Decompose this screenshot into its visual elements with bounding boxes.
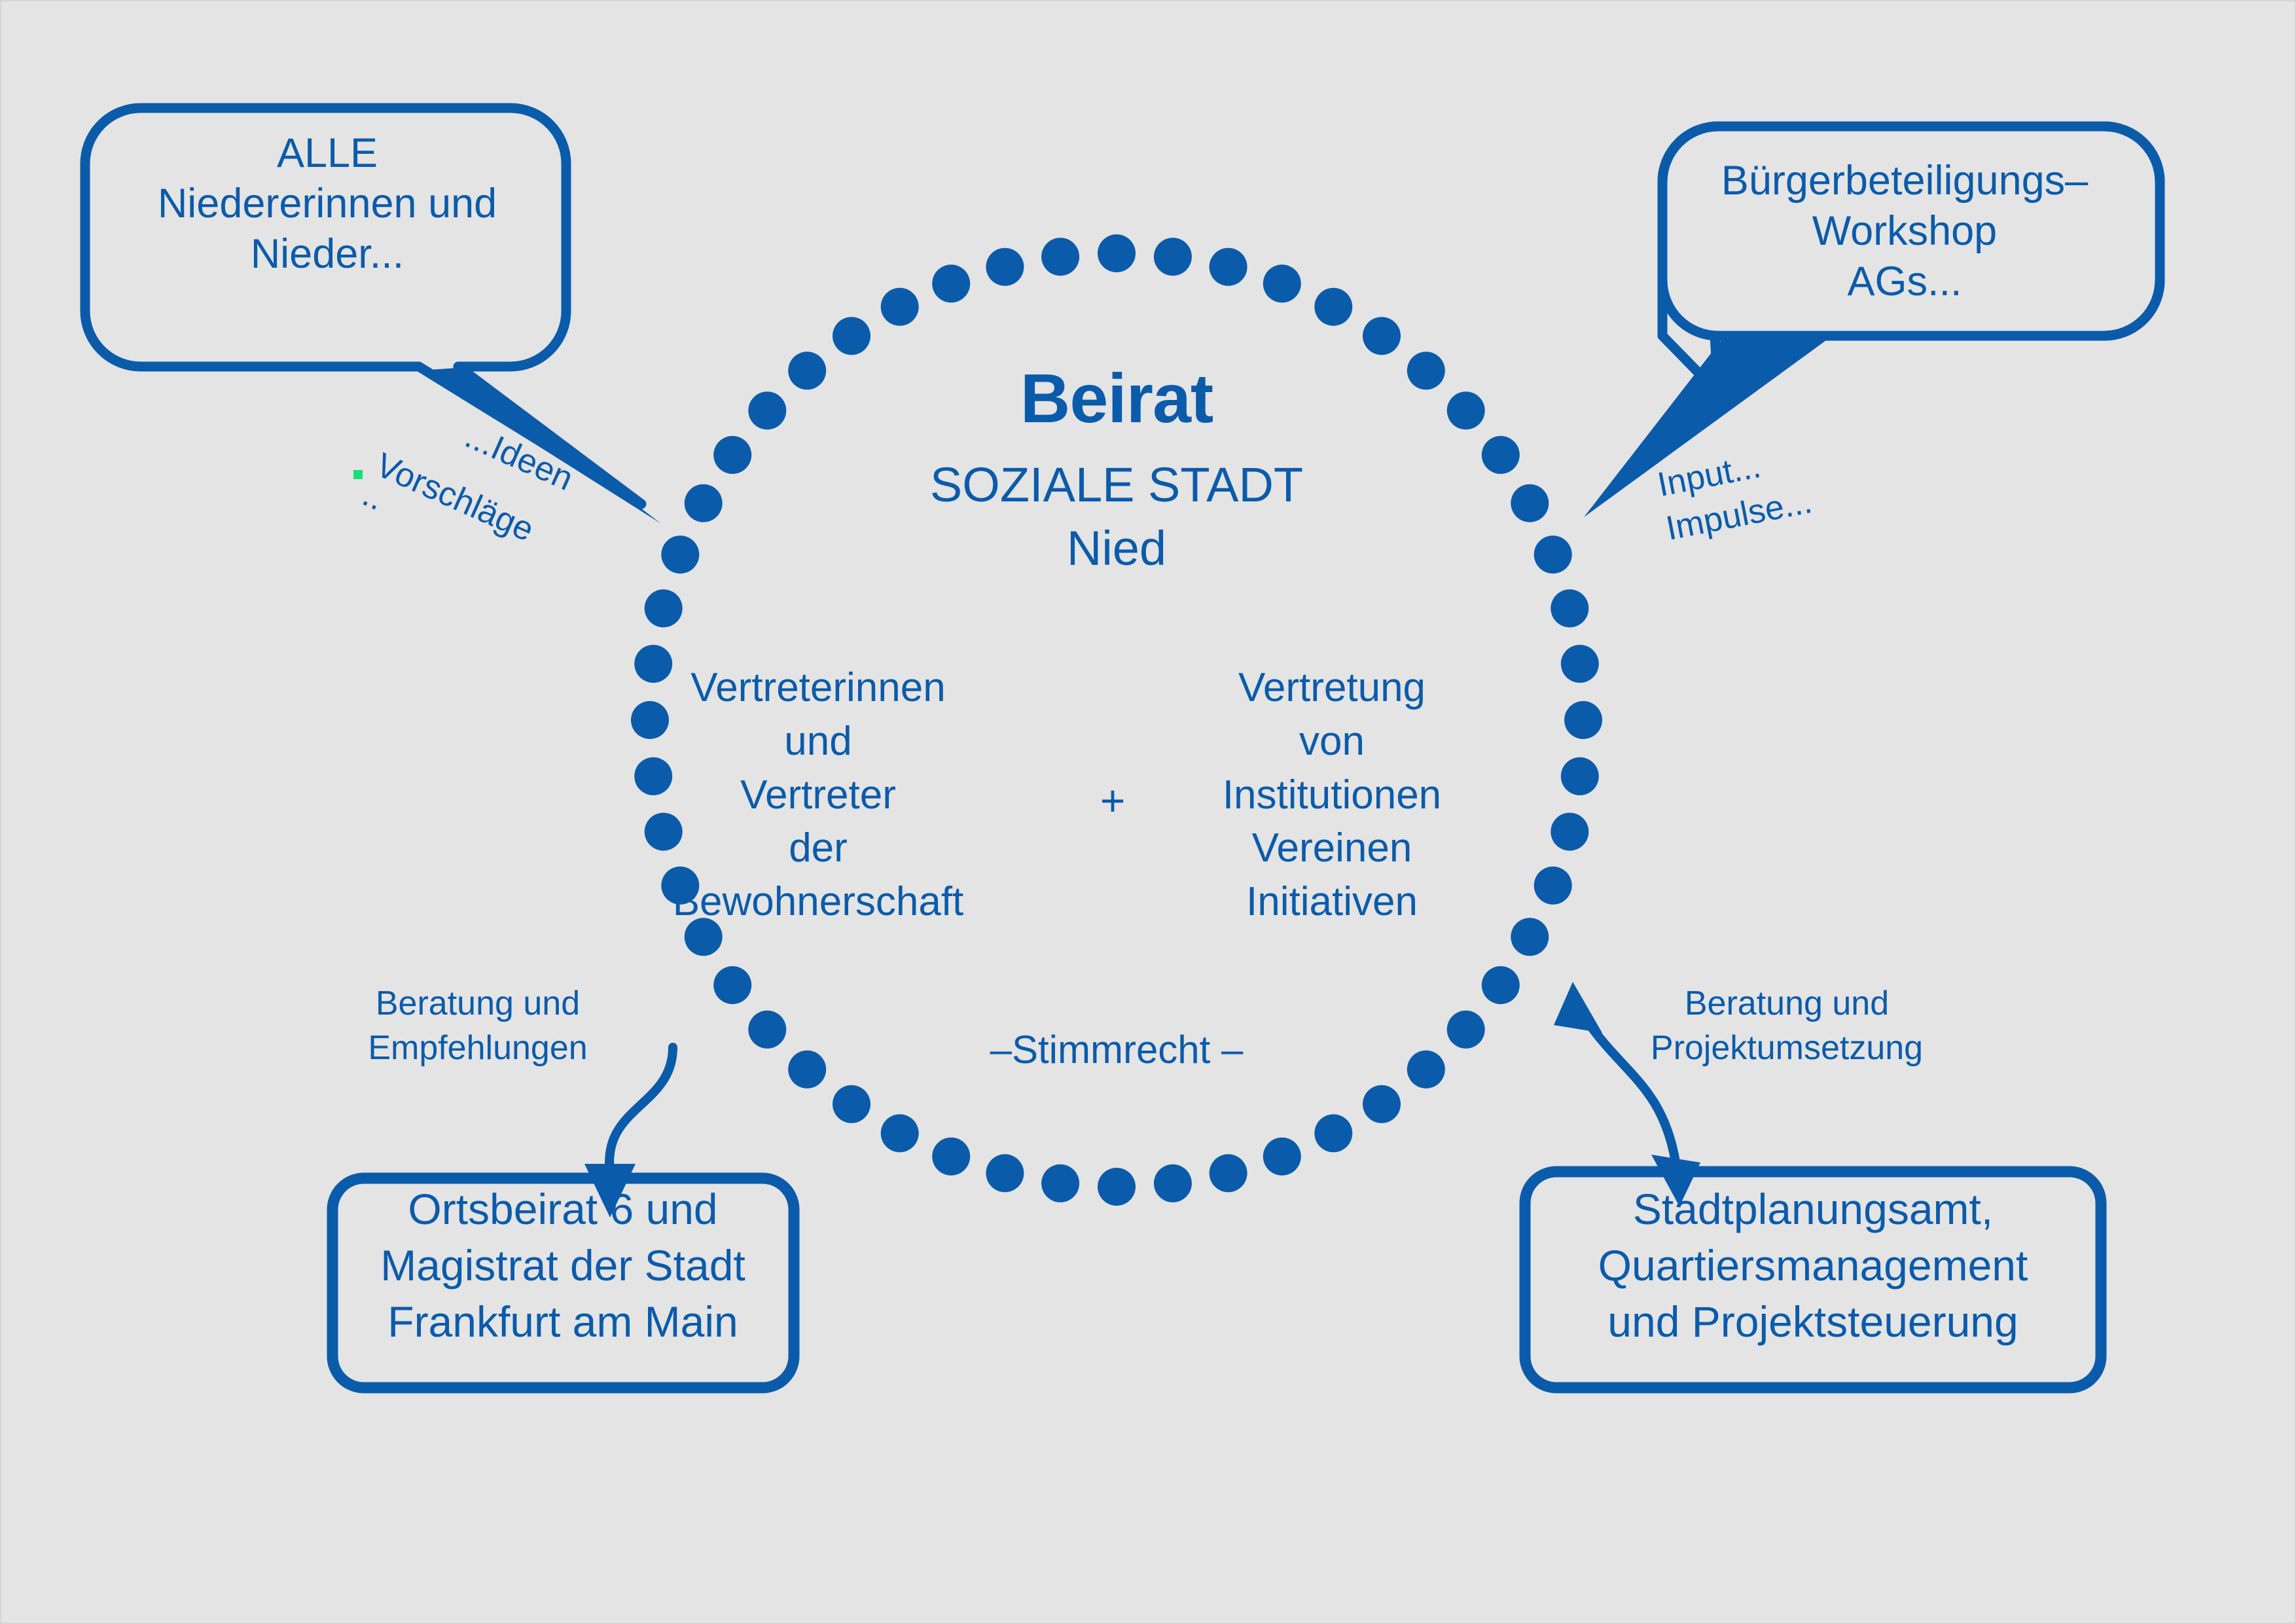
ring-dot (1098, 1168, 1136, 1206)
ring-dot (1534, 867, 1572, 905)
ring-dot (986, 248, 1024, 286)
ring-dot (1407, 1051, 1445, 1089)
ring-dot (1041, 1164, 1079, 1202)
bubble-alle-label: ALLE Niedererinnen und Nieder... (98, 128, 556, 280)
diagram-canvas: ALLE Niedererinnen und Nieder... Bürgerb… (0, 0, 2296, 1624)
ring-dot (1154, 238, 1192, 276)
ring-dot (1314, 288, 1352, 326)
ring-dot (1210, 248, 1247, 286)
ring-dot (932, 1138, 970, 1176)
ring-dot (685, 484, 723, 522)
ring-dot (833, 317, 870, 355)
subtitle-nied: Nied (789, 522, 1444, 576)
ring-dot (1263, 1138, 1301, 1176)
subtitle-soziale-stadt: SOZIALE STADT (789, 458, 1444, 513)
ring-dot (1482, 966, 1520, 1004)
ring-dot (1534, 535, 1572, 573)
ring-dot (1561, 645, 1599, 683)
ring-dot (1551, 813, 1588, 851)
annotation-beratung-projektumsetzung: Beratung und Projektumsetzung (1623, 982, 1950, 1070)
ring-dot (881, 288, 919, 326)
ring-dot (645, 589, 683, 627)
ring-dot (986, 1154, 1024, 1192)
page-title: Beirat (789, 360, 1444, 438)
annotation-beratung-empfehlungen: Beratung und Empfehlungen (340, 982, 615, 1070)
ring-dot (1210, 1154, 1247, 1192)
ring-dot (1551, 589, 1588, 627)
box-stadtplanungsamt-label: Stadtplanungsamt, Quartiersmanagement un… (1518, 1182, 2108, 1350)
ring-dot (1098, 234, 1136, 272)
ring-dot (1447, 391, 1485, 429)
box-ortsbeirat-label: Ortsbeirat 6 und Magistrat der Stadt Fra… (334, 1182, 792, 1350)
ring-dot (1041, 238, 1079, 276)
ring-dot (1154, 1164, 1192, 1202)
ring-dot (1482, 436, 1520, 474)
ring-dot (748, 1011, 786, 1049)
bubble-buergerbeteiligung-label: Bürgerbeteiligungs– Workshop AGs... (1676, 156, 2134, 307)
ring-dot (788, 1051, 826, 1089)
ring-dot (713, 436, 751, 474)
plus-sign: + (1073, 772, 1152, 829)
ring-dot (1263, 264, 1301, 302)
ring-dot (1561, 757, 1599, 795)
column-institutionen: Vertretung von Institutionen Vereinen In… (1201, 661, 1463, 929)
stimmrecht-note: –Stimmrecht – (920, 1028, 1313, 1072)
ring-dot (1511, 918, 1549, 956)
ring-dot (713, 966, 751, 1004)
ring-dot (833, 1085, 870, 1123)
ring-dot (1511, 484, 1549, 522)
ring-dot (1447, 1011, 1485, 1049)
ring-dot (1564, 701, 1602, 739)
ring-dot (881, 1114, 919, 1152)
ring-dot (932, 264, 970, 302)
ring-dot (661, 535, 699, 573)
column-bewohnerschaft: Vertreterinnen und Vertreter der Bewohne… (655, 661, 982, 929)
ring-dot (1363, 317, 1401, 355)
green-marker-dot (353, 470, 363, 479)
ring-dot (1314, 1114, 1352, 1152)
ring-dot (748, 391, 786, 429)
ring-dot (1363, 1085, 1401, 1123)
